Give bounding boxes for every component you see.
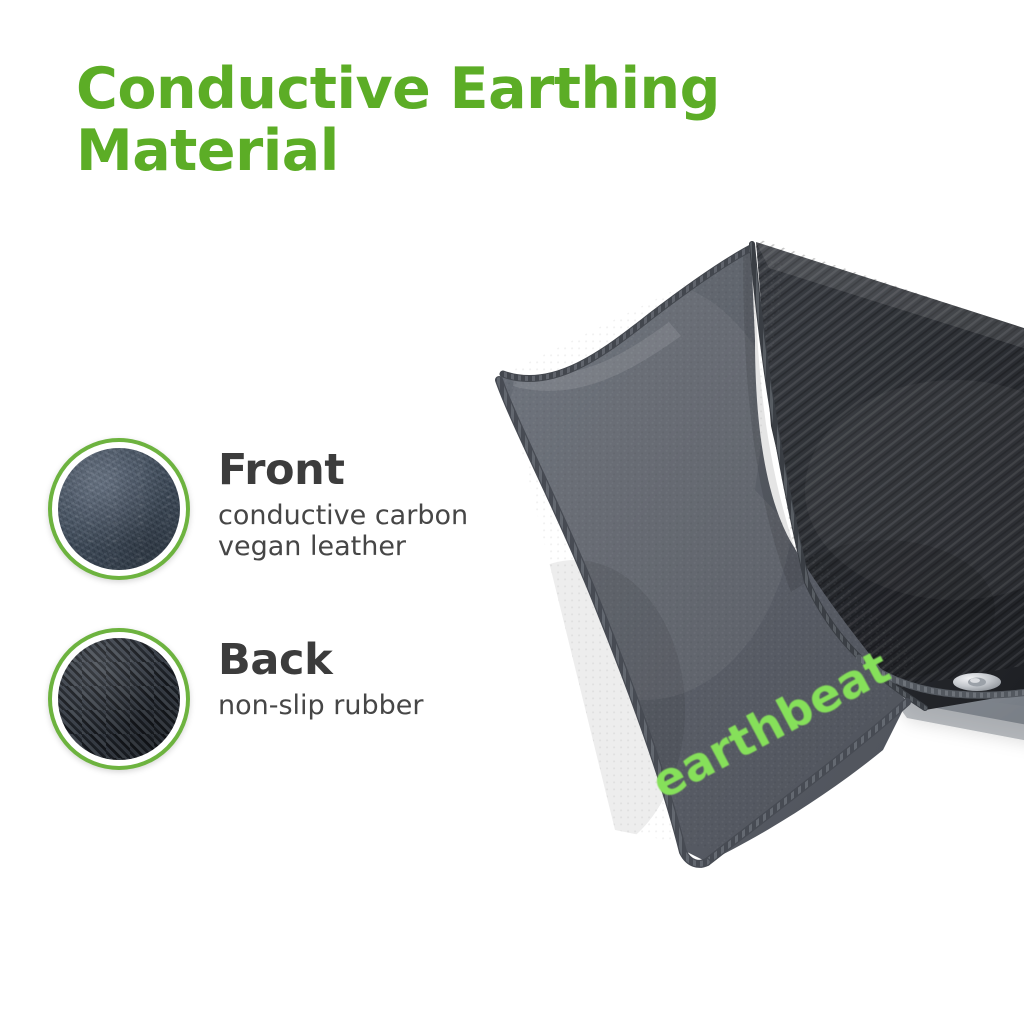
feature-front: Front conductive carbon vegan leather [48,438,468,580]
back-material-swatch [48,628,190,770]
feature-back-description: non-slip rubber [218,690,423,721]
feature-back: Back non-slip rubber [48,628,423,770]
page-title: Conductive Earthing Material [76,58,776,182]
feature-front-text: Front conductive carbon vegan leather [218,438,468,562]
feature-front-description: conductive carbon vegan leather [218,500,468,562]
herringbone-woven-rubber-texture [58,638,180,760]
page-title-line-1: Conductive Earthing [76,58,776,120]
front-material-swatch [48,438,190,580]
infographic-canvas: Conductive Earthing Material Front condu… [0,0,1024,1024]
feature-back-text: Back non-slip rubber [218,628,423,721]
metal-snap-stud [953,673,1001,691]
feature-back-title: Back [218,636,423,684]
feature-front-title: Front [218,446,468,494]
product-photo-earthing-mat: earthbeat [455,190,1024,910]
pebbled-vegan-leather-texture [58,448,180,570]
page-title-line-2: Material [76,120,776,182]
